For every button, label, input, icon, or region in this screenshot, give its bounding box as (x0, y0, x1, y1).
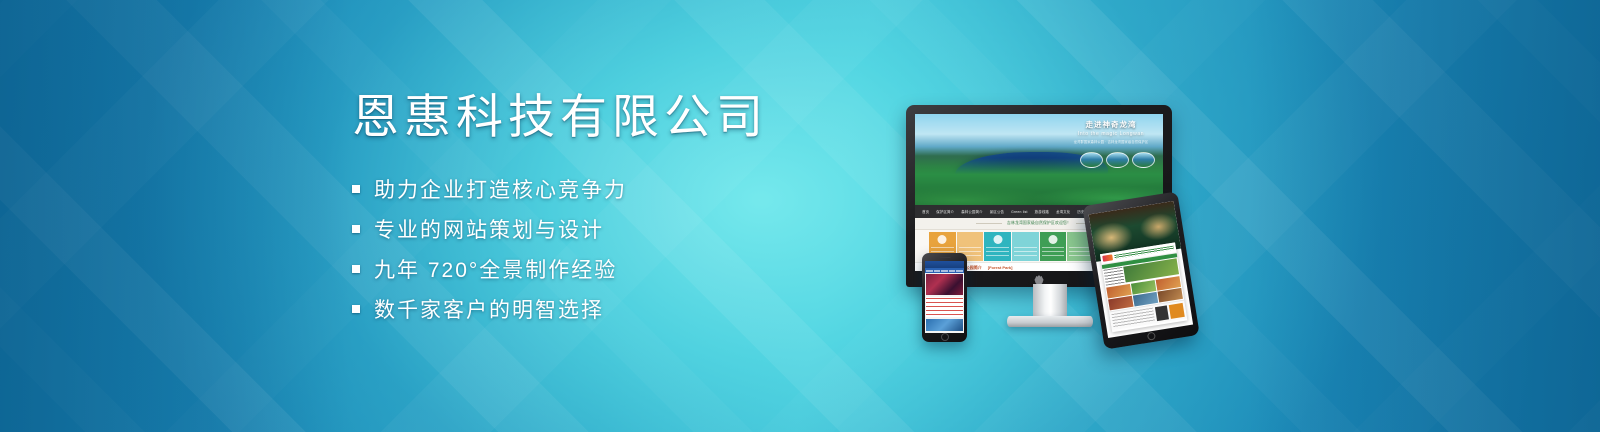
card-badge-icon (1048, 235, 1057, 244)
phone-nav-item (956, 270, 963, 272)
hero-thumbnail-strip (1080, 152, 1155, 168)
divider (976, 223, 1002, 224)
notice-text: 吉林龙湾国家级自然保护区欢迎您！ (1007, 221, 1071, 226)
card-badge-icon (993, 235, 1002, 244)
smartphone-mockup (922, 253, 967, 342)
feature-bullet-label: 数千家客户的明智选择 (374, 294, 604, 324)
monitor-stand-neck (1033, 284, 1067, 318)
square-bullet-icon (352, 185, 360, 193)
monitor-stand-base (1007, 316, 1093, 327)
hero-thumbnail (1132, 152, 1155, 168)
card-text-lines (986, 247, 1009, 256)
square-bullet-icon (352, 305, 360, 313)
hero-title-en: Into the magic Longwan (1065, 131, 1157, 137)
phone-nav-item (949, 270, 956, 272)
website-hero-section: 走进神奇龙湾 Into the magic Longwan 龙湾群国家森林公园 … (915, 114, 1163, 205)
banner-copy: 恩惠科技有限公司 助力企业打造核心竞争力 专业的网站策划与设计 九年 720°全… (352, 92, 768, 329)
tablet-mockup (1082, 191, 1200, 349)
tablet-screen (1089, 201, 1193, 338)
square-bullet-icon (352, 225, 360, 233)
phone-hero-photo (926, 274, 963, 295)
hero-title-block: 走进神奇龙湾 Into the magic Longwan 龙湾群国家森林公园 … (1065, 119, 1157, 144)
nav-item: 景区公告 (990, 209, 1004, 214)
forest-park-label-en: [Forest Park] (988, 265, 1013, 270)
nav-item: Green list (1011, 210, 1028, 214)
nav-item: 龙湾文化 (1056, 209, 1070, 214)
feature-bullet-label: 专业的网站策划与设计 (374, 214, 604, 244)
hero-title-cn: 走进神奇龙湾 (1065, 119, 1157, 130)
phone-secondary-photo (926, 319, 963, 332)
card-badge-icon (938, 235, 947, 244)
phone-screen (925, 261, 964, 333)
website-card (984, 232, 1011, 260)
hero-subtitle: 龙湾群国家森林公园 · 吉林龙湾国家级自然保护区 (1065, 139, 1157, 144)
qr-code-icon (1155, 305, 1169, 321)
phone-speaker-icon (939, 257, 950, 259)
feature-bullet-label: 九年 720°全景制作经验 (374, 254, 617, 284)
card-text-lines (1014, 247, 1037, 256)
feature-bullet-list: 助力企业打造核心竞争力 专业的网站策划与设计 九年 720°全景制作经验 数千家… (352, 169, 768, 329)
feature-bullet-label: 助力企业打造核心竞争力 (374, 174, 627, 204)
phone-nav-item (934, 270, 941, 272)
hero-banner: 恩惠科技有限公司 助力企业打造核心竞争力 专业的网站策划与设计 九年 720°全… (0, 0, 1600, 432)
phone-site-body (925, 273, 964, 333)
nav-item: 保护区简介 (936, 209, 954, 214)
hero-thumbnail (1106, 152, 1129, 168)
phone-site-header (925, 261, 964, 268)
nav-item: 首页 (922, 209, 929, 214)
website-card (1012, 232, 1039, 260)
website-card (1040, 232, 1067, 260)
phone-nav-item (941, 270, 948, 272)
nav-item: 旅游线路 (1035, 209, 1049, 214)
background-vignette (0, 0, 1600, 432)
footer-action-button[interactable] (1169, 303, 1185, 319)
card-text-lines (1042, 247, 1065, 256)
feature-bullet-item: 助力企业打造核心竞争力 (352, 169, 768, 209)
phone-home-button-icon (941, 333, 949, 341)
footer-text-block (1112, 308, 1155, 328)
tablet-home-button-icon (1147, 332, 1156, 341)
device-mockup-group: 走进神奇龙湾 Into the magic Longwan 龙湾群国家森林公园 … (900, 98, 1200, 350)
phone-article-list (926, 297, 963, 317)
feature-bullet-item: 九年 720°全景制作经验 (352, 249, 768, 289)
square-bullet-icon (352, 265, 360, 273)
tablet-text-column (1104, 267, 1125, 285)
tablet-site-page (1100, 243, 1187, 333)
tablet-site-logo (1102, 255, 1113, 262)
company-headline: 恩惠科技有限公司 (352, 92, 768, 143)
feature-bullet-item: 数千家客户的明智选择 (352, 289, 768, 329)
hero-thumbnail (1080, 152, 1103, 168)
nav-item: 森林公园简介 (961, 209, 983, 214)
phone-nav-item (926, 270, 933, 272)
feature-bullet-item: 专业的网站策划与设计 (352, 209, 768, 249)
